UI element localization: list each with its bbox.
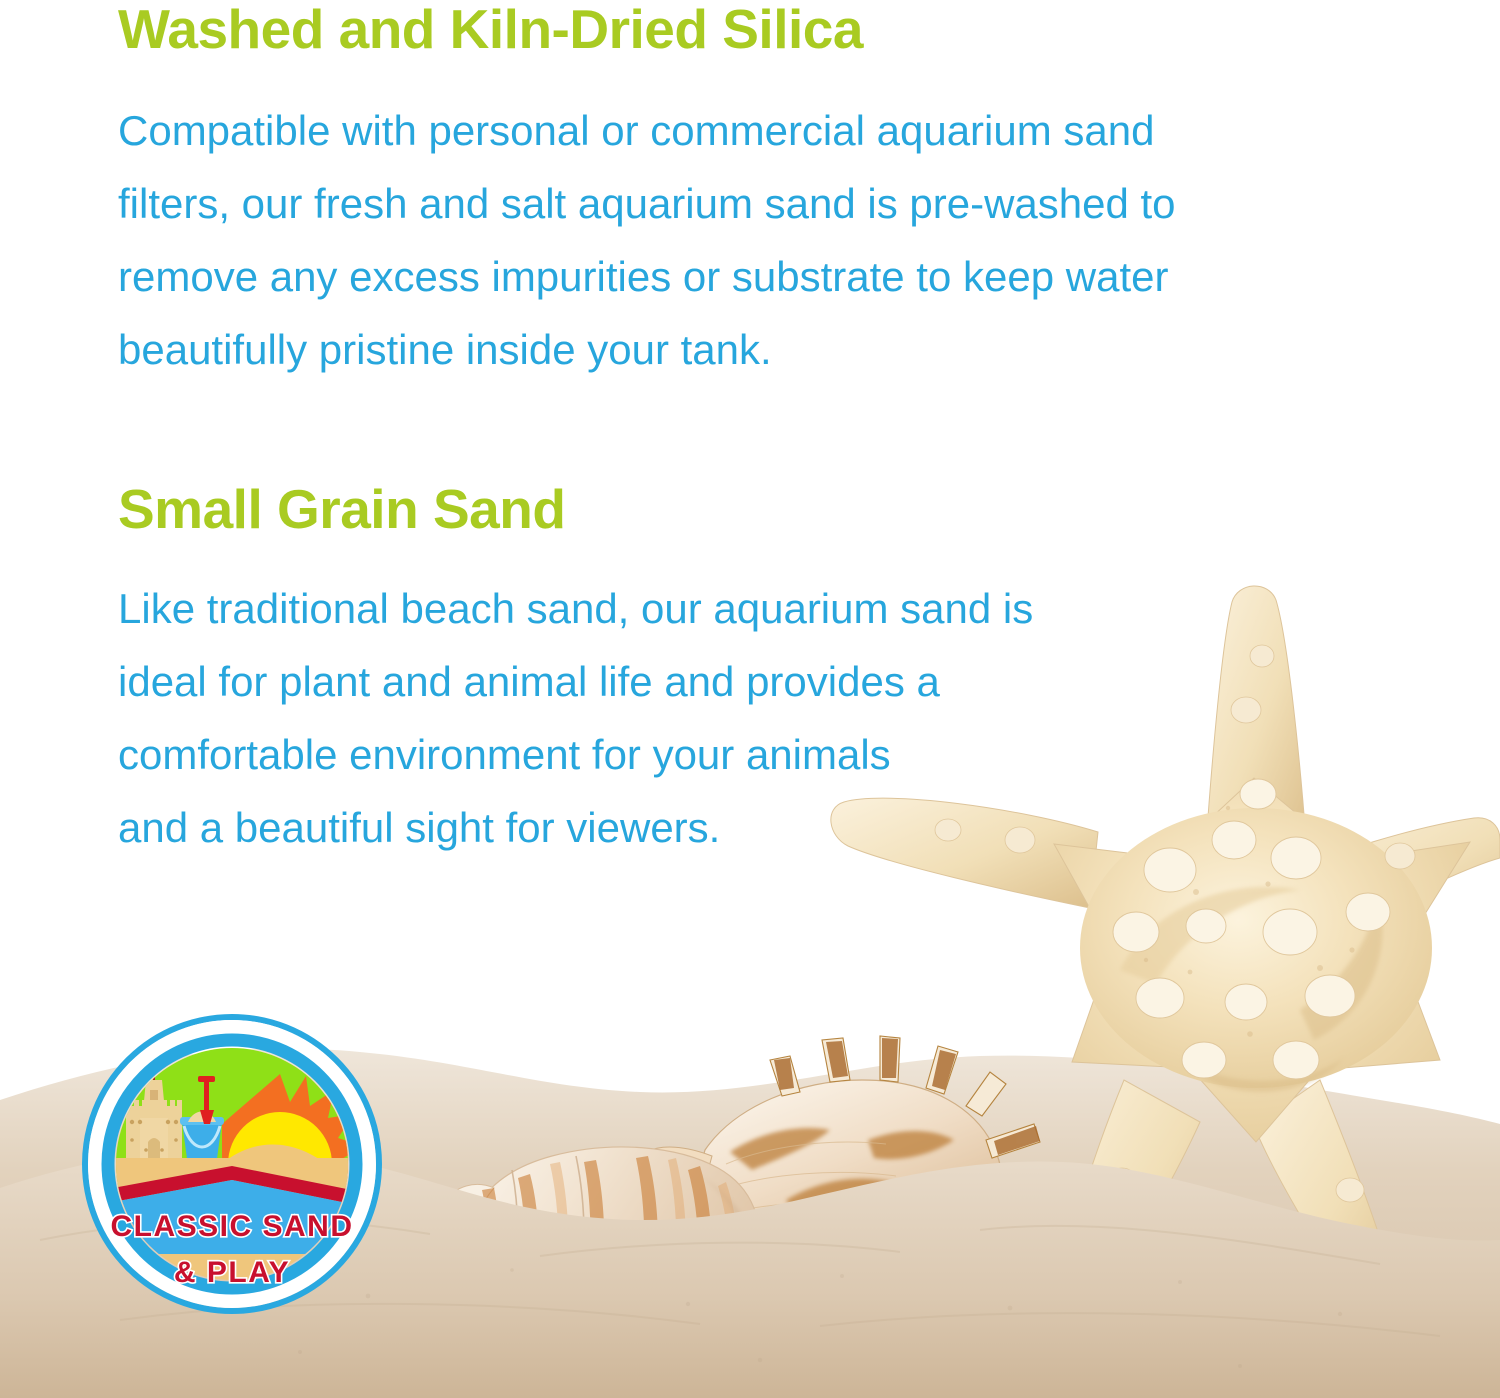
section-1-heading: Washed and Kiln-Dried Silica [118,0,1176,60]
section-1-paragraph: Compatible with personal or commercial a… [118,94,1176,386]
product-feature-panel: Washed and Kiln-Dried Silica Compatible … [0,0,1500,1398]
logo-wordmark-line1: CLASSIC SAND [110,1210,353,1243]
paragraph-line: remove any excess impurities or substrat… [118,240,1176,313]
logo-wordmark-line2: & PLAY [174,1256,290,1289]
section-washed-kiln-dried-silica: Washed and Kiln-Dried Silica Compatible … [118,0,1176,386]
section-2-heading: Small Grain Sand [118,478,1033,540]
paragraph-line: filters, our fresh and salt aquarium san… [118,167,1176,240]
classic-sand-and-play-logo: CLASSIC SAND & PLAY [82,1014,382,1314]
paragraph-line: Compatible with personal or commercial a… [118,94,1176,167]
paragraph-line: beautifully pristine inside your tank. [118,313,1176,386]
